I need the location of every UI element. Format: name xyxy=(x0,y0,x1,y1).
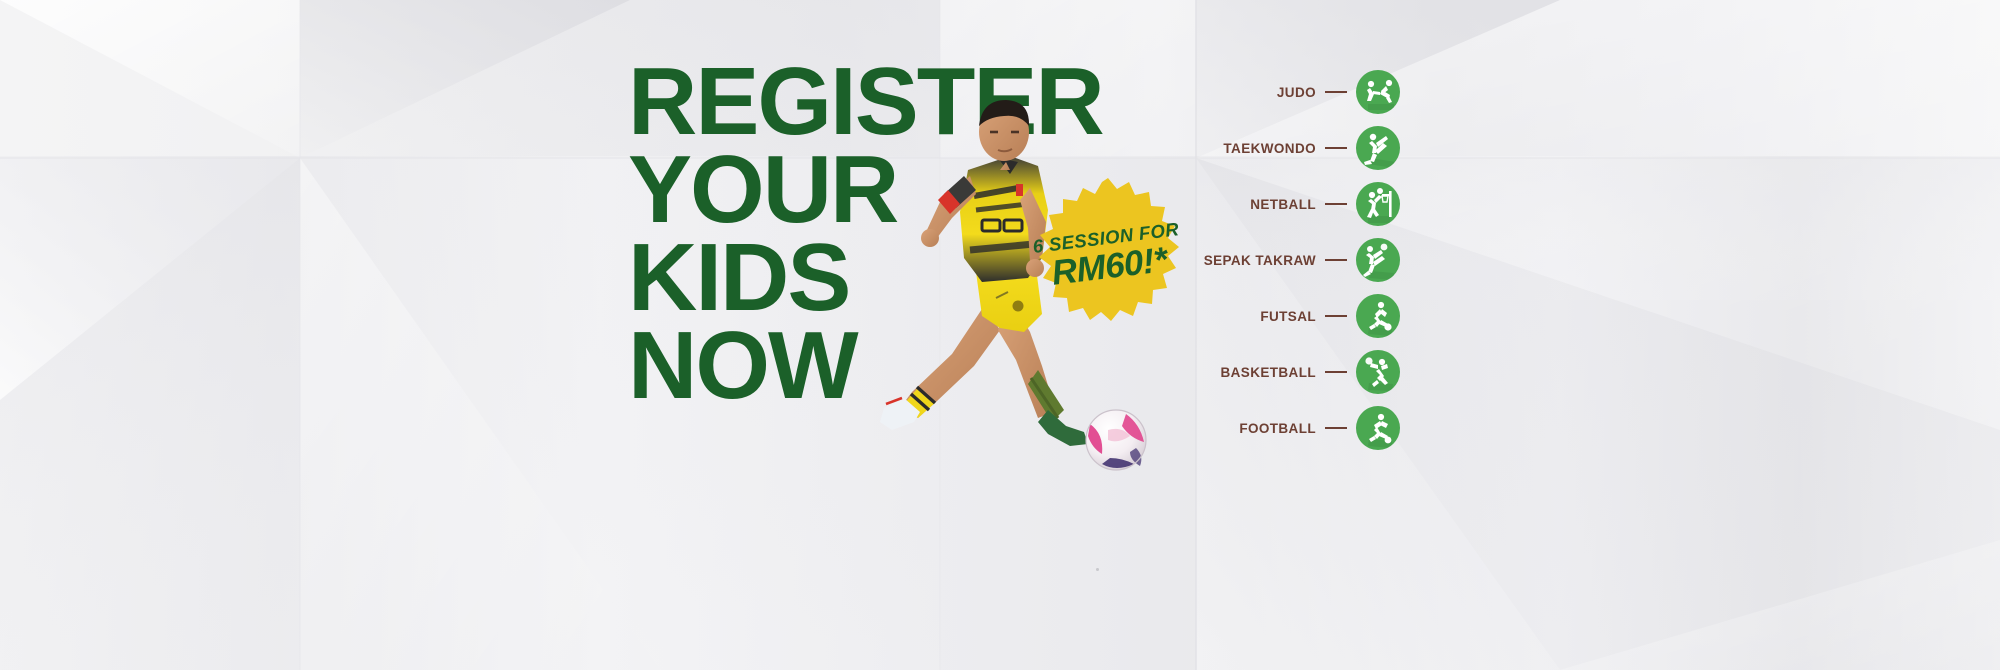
basketball-dunk-icon[interactable] xyxy=(1356,350,1400,394)
sport-item-futsal[interactable]: FUTSAL xyxy=(1170,294,1400,338)
background-dot-artefact xyxy=(1096,568,1099,571)
sport-item-sepak-takraw[interactable]: SEPAK TAKRAW xyxy=(1170,238,1400,282)
sport-item-taekwondo[interactable]: TAEKWONDO xyxy=(1170,126,1400,170)
sport-dash xyxy=(1325,371,1347,373)
sport-label-netball: NETBALL xyxy=(1250,197,1316,212)
sport-dash xyxy=(1325,203,1347,205)
football-player-icon[interactable] xyxy=(1356,406,1400,450)
sport-label-futsal: FUTSAL xyxy=(1260,309,1316,324)
sport-dash xyxy=(1325,427,1347,429)
taekwondo-kick-icon[interactable] xyxy=(1356,126,1400,170)
sport-dash xyxy=(1325,315,1347,317)
sport-dash xyxy=(1325,259,1347,261)
sport-item-basketball[interactable]: BASKETBALL xyxy=(1170,350,1400,394)
sport-dash xyxy=(1325,147,1347,149)
sepak-takraw-kick-icon[interactable] xyxy=(1356,238,1400,282)
sport-label-football: FOOTBALL xyxy=(1239,421,1316,436)
sport-label-basketball: BASKETBALL xyxy=(1221,365,1317,380)
judo-throw-icon[interactable] xyxy=(1356,70,1400,114)
starburst-shape xyxy=(1039,178,1179,321)
sport-label-judo: JUDO xyxy=(1277,85,1316,100)
athlete-front-boot xyxy=(1038,410,1088,446)
starburst-icon xyxy=(1032,176,1184,334)
athlete-shorts-crest xyxy=(1013,301,1024,312)
promo-banner: REGISTER YOUR KIDS NOW xyxy=(0,0,2000,670)
futsal-player-icon[interactable] xyxy=(1356,294,1400,338)
sport-item-netball[interactable]: NETBALL xyxy=(1170,182,1400,226)
sports-list: JUDO TAEKWONDO xyxy=(1170,70,1400,450)
sport-item-judo[interactable]: JUDO xyxy=(1170,70,1400,114)
athlete-jersey-crest xyxy=(1016,184,1023,196)
sport-dash xyxy=(1325,91,1347,93)
netball-hoop-icon[interactable] xyxy=(1356,182,1400,226)
sport-label-taekwondo: TAEKWONDO xyxy=(1223,141,1316,156)
sport-item-football[interactable]: FOOTBALL xyxy=(1170,406,1400,450)
sport-label-sepak-takraw: SEPAK TAKRAW xyxy=(1204,253,1316,268)
football-ball xyxy=(1086,410,1146,470)
athlete-back-hand xyxy=(921,229,939,247)
price-badge: 6 SESSION FOR RM60!* xyxy=(1032,176,1184,334)
